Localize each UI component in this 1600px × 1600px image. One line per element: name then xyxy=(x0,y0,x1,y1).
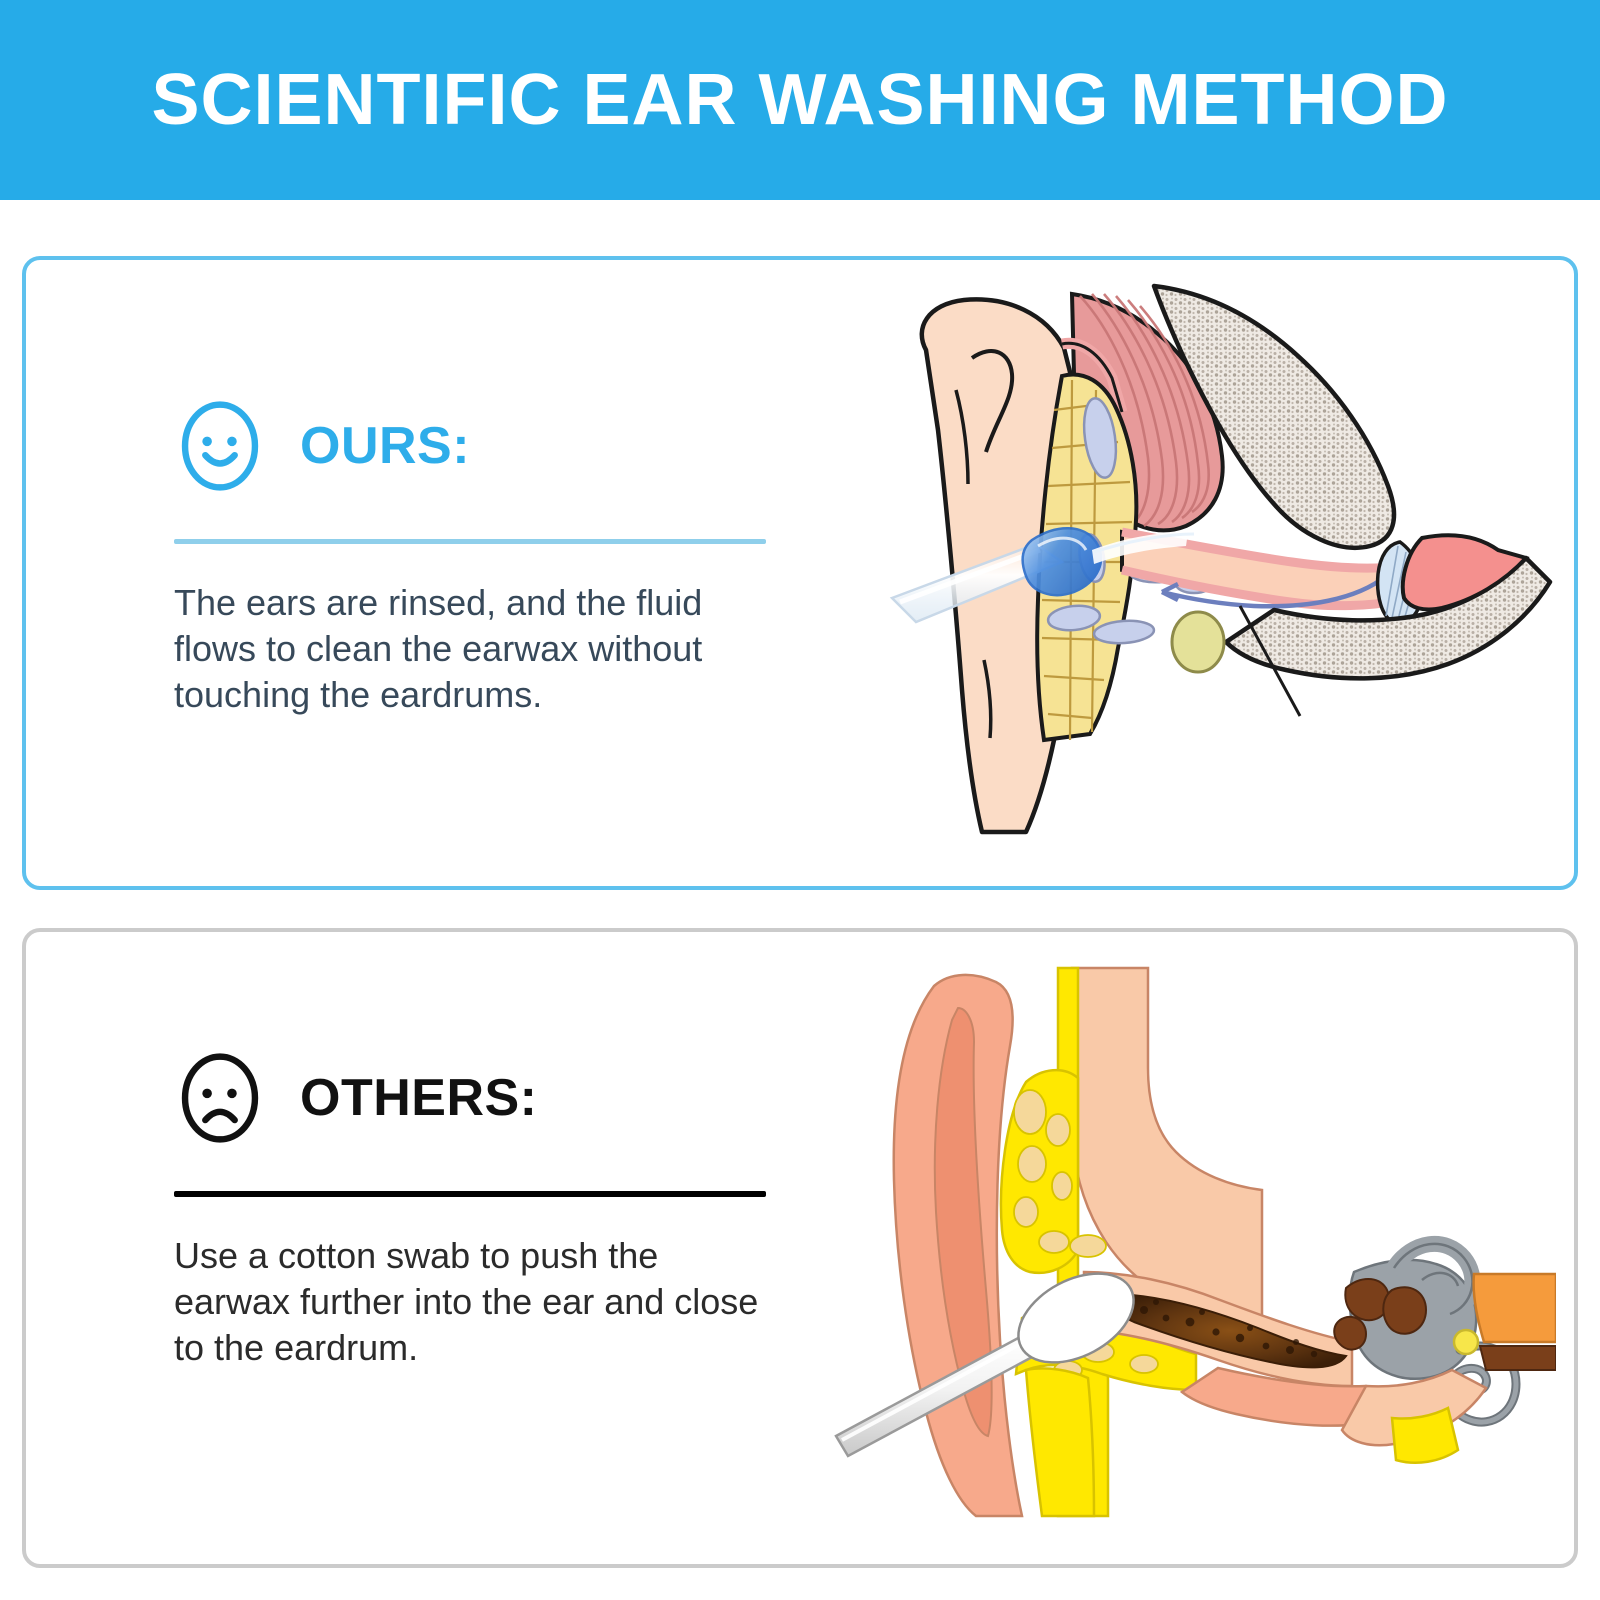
others-text-block: OTHERS: Use a cotton swab to push the ea… xyxy=(174,1052,774,1371)
others-label: OTHERS: xyxy=(300,1072,538,1124)
page-header: SCIENTIFIC EAR WASHING METHOD xyxy=(0,0,1600,200)
card-others: OTHERS: Use a cotton swab to push the ea… xyxy=(22,928,1578,1568)
ours-body-text: The ears are rinsed, and the fluid flows… xyxy=(174,580,774,718)
ours-heading-row: OURS: xyxy=(174,400,774,492)
cotton-swab-ear-anatomy-illustration xyxy=(826,950,1556,1550)
ours-text-block: OURS: The ears are rinsed, and the fluid… xyxy=(174,400,774,718)
infographic-page: SCIENTIFIC EAR WASHING METHOD OURS: The … xyxy=(0,0,1600,1600)
smiley-face-icon xyxy=(174,400,266,492)
sad-face-icon xyxy=(174,1052,266,1144)
ours-divider xyxy=(174,539,766,544)
others-body-text: Use a cotton swab to push the earwax fur… xyxy=(174,1233,774,1371)
others-divider xyxy=(174,1191,766,1197)
page-title: SCIENTIFIC EAR WASHING METHOD xyxy=(151,64,1448,136)
card-ours: OURS: The ears are rinsed, and the fluid… xyxy=(22,256,1578,890)
ear-irrigation-anatomy-illustration xyxy=(886,270,1566,850)
ours-label: OURS: xyxy=(300,420,470,472)
others-heading-row: OTHERS: xyxy=(174,1052,774,1144)
